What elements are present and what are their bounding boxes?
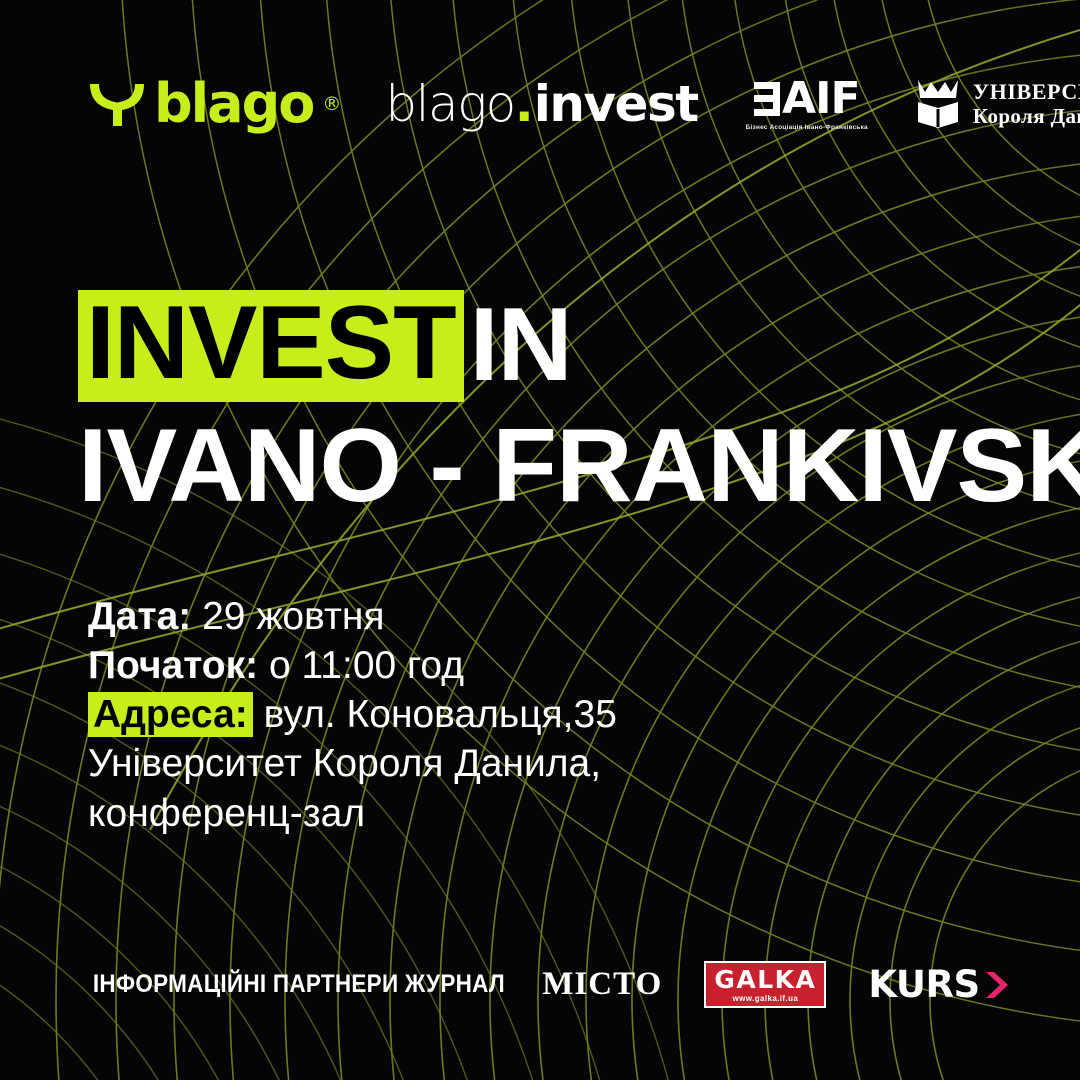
info-partners-footer: ІНФОРМАЦІЙНІ ПАРТНЕРИ ЖУРНАЛ МІСТО GALKA… — [0, 961, 1080, 1008]
start-value: о 11:00 год — [269, 644, 464, 687]
address-line-2: Університет Короля Данила, — [88, 739, 617, 788]
headline-line-1: INVEST IN — [78, 290, 1080, 402]
address-line-3: конференц-зал — [88, 789, 617, 838]
baif-wordmark: AIF — [782, 77, 859, 121]
logo-blago[interactable]: blago ® — [88, 77, 341, 131]
headline-line-2: IVANO - FRANKIVSK — [78, 414, 1080, 518]
blago-wordmark: blago — [154, 77, 313, 131]
start-label: Початок: — [88, 644, 258, 687]
logo-blago-invest[interactable]: blago . invest — [385, 79, 697, 129]
blago-y-mark-icon — [88, 80, 146, 128]
date-value: 29 жовтня — [202, 595, 384, 638]
detail-row-address: Адреса: вул. Коновальця,35 — [88, 690, 617, 739]
info-partners-label: ІНФОРМАЦІЙНІ ПАРТНЕРИ ЖУРНАЛ — [93, 970, 505, 999]
galka-url: www.galka.if.ua — [733, 995, 799, 1003]
date-label: Дата: — [88, 595, 191, 638]
logo-galka[interactable]: GALKA www.galka.if.ua — [704, 961, 826, 1008]
baif-row: AIF — [754, 77, 859, 121]
baif-subtitle: Бізнес Асоціація Івано-Франківська — [746, 125, 868, 132]
poster-canvas: blago ® blago . invest AIF Бізнес Асоціа… — [0, 0, 1080, 1080]
reversed-e-icon — [754, 82, 780, 116]
blago-registered-icon: ® — [322, 95, 341, 114]
logo-kurs[interactable]: KURS — [868, 966, 1009, 1003]
blago-invest-bold-part: invest — [534, 79, 698, 129]
headline-highlight-invest: INVEST — [78, 290, 464, 402]
background-wave-pattern — [0, 0, 1080, 1080]
university-line2: Короля Данила — [973, 105, 1080, 128]
detail-row-start: Початок: о 11:00 год — [88, 641, 617, 690]
university-line1: УНІВЕРСИТЕТ — [973, 80, 1080, 104]
crown-book-emblem-icon — [916, 78, 960, 130]
blago-invest-dot: . — [515, 79, 534, 129]
chevron-right-icon — [984, 970, 1010, 1000]
headline-word-in: IN — [464, 298, 572, 394]
logo-baif[interactable]: AIF Бізнес Асоціація Івано-Франківська — [746, 77, 868, 132]
university-text: УНІВЕРСИТЕТ Короля Данила — [973, 80, 1080, 127]
address-value: вул. Коновальця,35 — [264, 693, 617, 736]
headline-block: INVEST IN IVANO - FRANKIVSK — [78, 290, 1080, 518]
address-label: Адреса: — [88, 692, 253, 737]
event-details-block: Дата: 29 жовтня Початок: о 11:00 год Адр… — [88, 592, 617, 838]
logo-misto[interactable]: МІСТО — [542, 968, 662, 1001]
detail-row-date: Дата: 29 жовтня — [88, 592, 617, 641]
kurs-wordmark: KURS — [868, 966, 979, 1003]
blago-invest-light-part: blago — [385, 79, 514, 129]
partner-logo-strip: blago ® blago . invest AIF Бізнес Асоціа… — [88, 68, 1020, 140]
logo-university[interactable]: УНІВЕРСИТЕТ Короля Данила — [916, 78, 1080, 130]
galka-wordmark: GALKA — [714, 967, 816, 992]
